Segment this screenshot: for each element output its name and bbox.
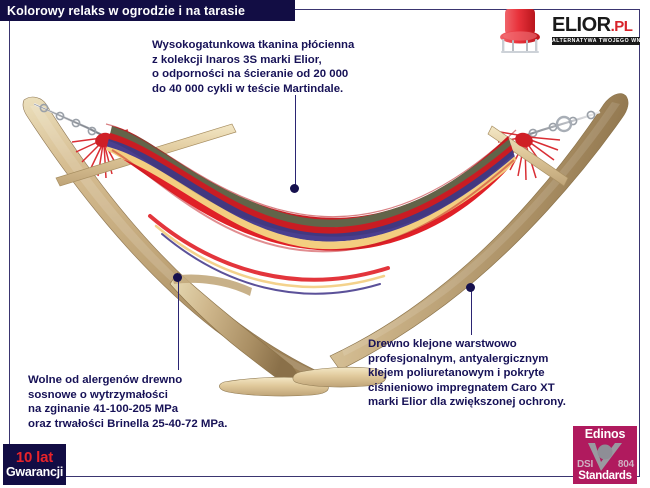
spreader-bar-right [488,126,568,186]
callout-wood-right-line-1: Drewno klejone warstwowo [368,337,566,352]
certification-left-code: DSI [577,459,593,470]
leader-dot-wood-left [173,273,182,282]
chain-right [524,112,600,136]
logo-brand-tld: .PL [611,18,633,35]
certification-footer: Standards [573,470,637,482]
leader-dot-wood-right [466,283,475,292]
callout-fabric: Wysokogatunkowa tkanina płócienna z kole… [152,38,354,96]
leader-line-wood-left [178,278,179,370]
page-title: Kolorowy relaks w ogrodzie i na tarasie [7,4,245,18]
callout-wood-right-line-4: ciśnieniowo impregnatem Caro XT [368,381,566,396]
rope-fan-right [498,132,560,180]
product-infographic: Kolorowy relaks w ogrodzie i na tarasie [0,0,650,488]
callout-wood-right-line-5: marki Elior dla zwiększonej ochrony. [368,395,566,410]
callout-wood-left: Wolne od alergenów drewno sosnowe o wytr… [28,373,227,431]
spreader-bar-left [56,124,236,186]
callout-wood-left-line-4: oraz trwałości Brinella 25-40-72 MPa. [28,417,227,432]
hammock-fabric [100,118,520,349]
warranty-years: 10 lat [16,450,53,465]
chain-left [34,104,104,136]
callout-wood-left-line-2: sosnowe o wytrzymałości [28,388,227,403]
logo-wordmark: ELIOR.PL ALTERNATYWA TWOJEGO WNĘTRZA [552,16,640,45]
callout-wood-left-line-3: na zginanie 41-100-205 MPa [28,402,227,417]
callout-fabric-line-4: do 40 000 cykli w teście Martindale. [152,82,354,97]
callout-wood-right-line-3: klejem poliuretanowym i pokryte [368,366,566,381]
logo-tagline: ALTERNATYWA TWOJEGO WNĘTRZA [552,37,640,45]
warranty-badge: 10 lat Gwarancji [3,444,66,485]
leader-dot-fabric [290,184,299,193]
logo-brand-text: ELIOR.PL [552,16,640,36]
stand-base-left [219,377,328,396]
callout-wood-right: Drewno klejone warstwowo profesjonalnym,… [368,337,566,410]
callout-wood-right-line-2: profesjonalnym, antyalergicznym [368,352,566,367]
certification-right-code: 804 [618,459,634,470]
callout-fabric-line-2: z kolekcji Inaros 3S marki Elior, [152,53,354,68]
warranty-label: Gwarancji [6,466,63,479]
header-banner: Kolorowy relaks w ogrodzie i na tarasie [0,0,295,21]
stand-arch-right [330,94,628,370]
callout-fabric-line-3: o odporności na ścieranie od 20 000 [152,67,354,82]
stand-leg-left-front [170,272,300,386]
rope-fan-left [72,130,130,178]
leader-line-fabric [295,95,296,189]
leader-line-wood-right [471,288,472,335]
brand-logo[interactable]: ELIOR.PL ALTERNATYWA TWOJEGO WNĘTRZA [492,6,640,54]
logo-brand-main: ELIOR [552,14,611,36]
callout-fabric-line-1: Wysokogatunkowa tkanina płócienna [152,38,354,53]
certification-name: Edinos [573,427,637,441]
certification-badge: Edinos DSI 804 Standards [573,426,637,484]
callout-wood-left-line-1: Wolne od alergenów drewno [28,373,227,388]
red-armchair-icon [492,6,548,54]
